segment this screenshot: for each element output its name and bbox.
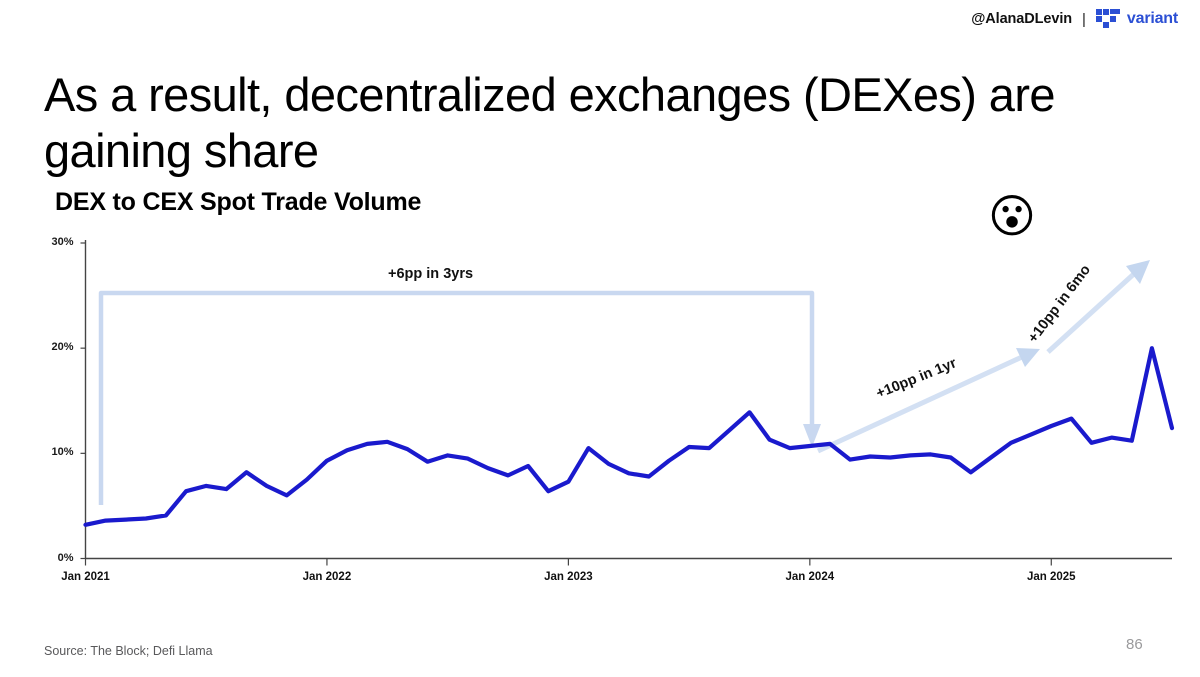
brand-lockup: variant bbox=[1096, 9, 1178, 29]
header-divider: | bbox=[1082, 11, 1086, 28]
y-axis-tick-label: 30% bbox=[34, 236, 74, 248]
x-axis-tick-label: Jan 2023 bbox=[508, 571, 628, 583]
face-with-open-mouth-emoji: 😮 bbox=[988, 193, 1036, 239]
author-handle: @AlanaDLevin bbox=[971, 11, 1072, 27]
source-note: Source: The Block; Defi Llama bbox=[44, 644, 213, 658]
y-axis-tick-label: 20% bbox=[34, 341, 74, 353]
annotation-label-10pp-1yr: +10pp in 1yr bbox=[874, 355, 959, 402]
annotation-label-10pp-6mo: +10pp in 6mo bbox=[1025, 262, 1094, 346]
x-axis-tick-marks bbox=[86, 559, 1052, 566]
slide: @AlanaDLevin | variant As a result, dece… bbox=[0, 0, 1200, 677]
x-axis-tick-label: Jan 2021 bbox=[26, 571, 146, 583]
x-axis-tick-label: Jan 2025 bbox=[991, 571, 1111, 583]
y-axis-tick-marks bbox=[81, 243, 86, 559]
y-axis-tick-label: 10% bbox=[34, 446, 74, 458]
series-line-dex-to-cex bbox=[86, 348, 1173, 525]
annotation-bracket-3yrs bbox=[101, 293, 821, 505]
annotation-arrow-1yr bbox=[818, 348, 1040, 451]
x-axis-tick-label: Jan 2022 bbox=[267, 571, 387, 583]
x-axis-tick-label: Jan 2024 bbox=[750, 571, 870, 583]
page-title: As a result, decentralized exchanges (DE… bbox=[44, 67, 1124, 178]
brand-name: variant bbox=[1127, 10, 1178, 28]
annotation-label-6pp-3yrs: +6pp in 3yrs bbox=[388, 266, 473, 282]
page-number: 86 bbox=[1126, 636, 1143, 653]
slide-header: @AlanaDLevin | variant bbox=[971, 6, 1178, 32]
y-axis-tick-label: 0% bbox=[34, 552, 74, 564]
chart-title: DEX to CEX Spot Trade Volume bbox=[55, 188, 421, 217]
variant-blocks-logo-icon bbox=[1096, 9, 1121, 29]
